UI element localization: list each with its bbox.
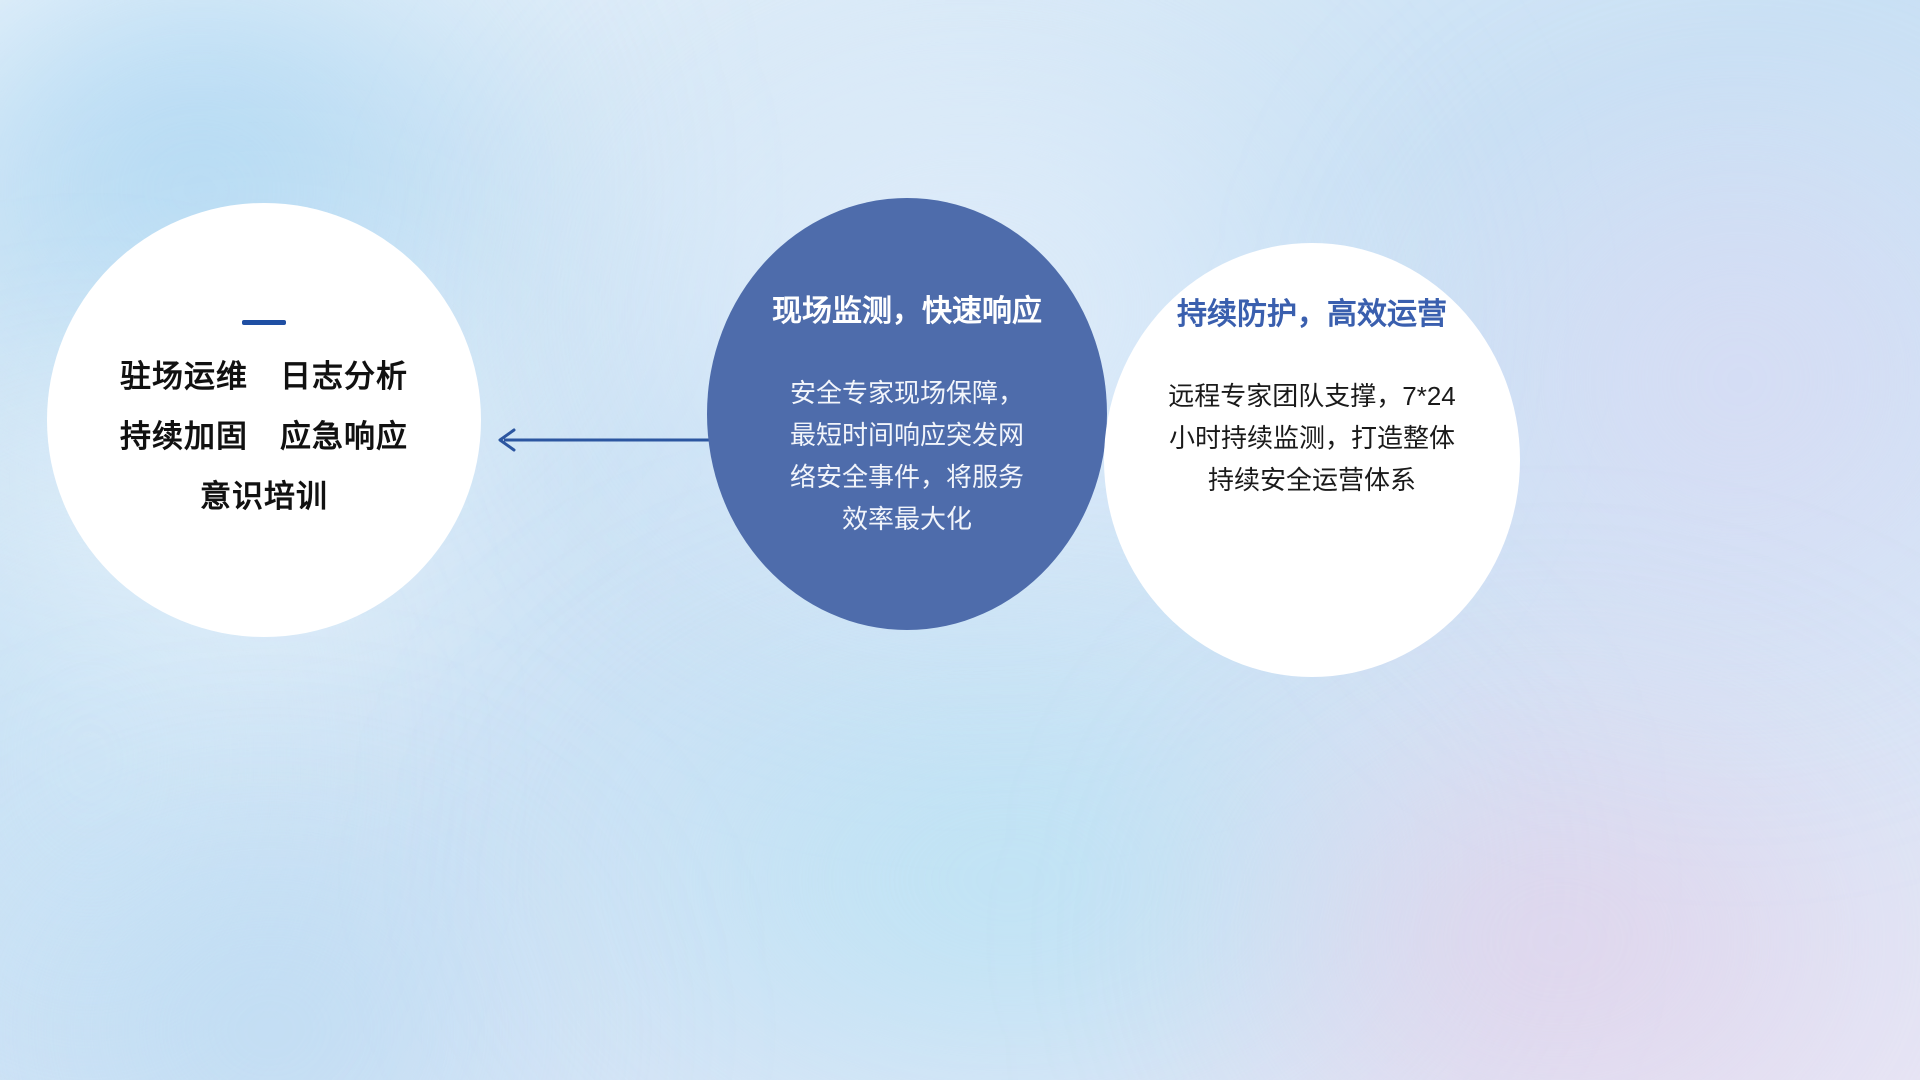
slide-canvas: 驻场运维 日志分析 持续加固 应急响应 意识培训 现场监测，快速响应 安全专家现… (0, 0, 1920, 1080)
onsite-monitoring-circle[interactable]: 现场监测，快速响应 安全专家现场保障， 最短时间响应突发网 络安全事件，将服务 … (707, 198, 1107, 630)
capabilities-line-2: 持续加固 应急响应 (120, 421, 408, 452)
flow-arrow-icon (488, 418, 710, 462)
onsite-monitoring-title: 现场监测，快速响应 (772, 295, 1042, 328)
capabilities-list: 驻场运维 日志分析 持续加固 应急响应 意识培训 (120, 361, 408, 512)
capabilities-line-1: 驻场运维 日志分析 (120, 361, 408, 392)
continuous-protection-circle[interactable]: 持续防护，高效运营 远程专家团队支撑，7*24 小时持续监测，打造整体 持续安全… (1104, 243, 1520, 677)
onsite-monitoring-body: 安全专家现场保障， 最短时间响应突发网 络安全事件，将服务 效率最大化 (772, 372, 1042, 540)
flow-arrow (488, 418, 710, 462)
continuous-protection-body: 远程专家团队支撑，7*24 小时持续监测，打造整体 持续安全运营体系 (1142, 375, 1482, 501)
capabilities-line-3: 意识培训 (120, 481, 408, 512)
continuous-protection-title: 持续防护，高效运营 (1177, 298, 1447, 331)
capabilities-circle[interactable]: 驻场运维 日志分析 持续加固 应急响应 意识培训 (47, 203, 481, 637)
divider-dash (242, 320, 286, 325)
